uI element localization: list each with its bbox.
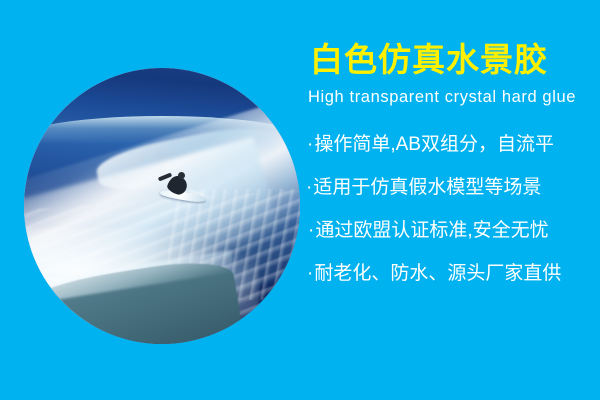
surfer-head (178, 172, 185, 179)
surfer-figure (154, 170, 208, 204)
feature-item: ·耐老化、防水、源头厂家直供 (307, 263, 596, 285)
product-banner: 白色仿真水景胶 High transparent crystal hard gl… (0, 0, 600, 400)
feature-text: 耐老化、防水、源头厂家直供 (314, 263, 561, 285)
feature-list: ·操作简单,AB双组分，自流平 ·适用于仿真假水模型等场景 ·通过欧盟认证标准,… (306, 134, 596, 285)
bullet-dot-icon: · (306, 177, 312, 199)
feature-item: ·通过欧盟认证标准,安全无忧 (308, 220, 596, 242)
bullet-dot-icon: · (308, 220, 314, 242)
bullet-dot-icon: · (307, 134, 313, 156)
bullet-dot-icon: · (307, 263, 313, 285)
feature-item: ·操作简单,AB双组分，自流平 (307, 134, 596, 156)
feature-text: 操作简单,AB双组分，自流平 (314, 134, 554, 156)
feature-text: 通过欧盟认证标准,安全无忧 (315, 220, 548, 242)
product-photo-circle (24, 68, 300, 344)
subheadline: High transparent crystal hard glue (308, 86, 596, 108)
copy-block: 白色仿真水景胶 High transparent crystal hard gl… (306, 40, 596, 285)
headline: 白色仿真水景胶 (310, 40, 596, 80)
feature-item: ·适用于仿真假水模型等场景 (306, 177, 596, 199)
feature-text: 适用于仿真假水模型等场景 (313, 177, 541, 199)
